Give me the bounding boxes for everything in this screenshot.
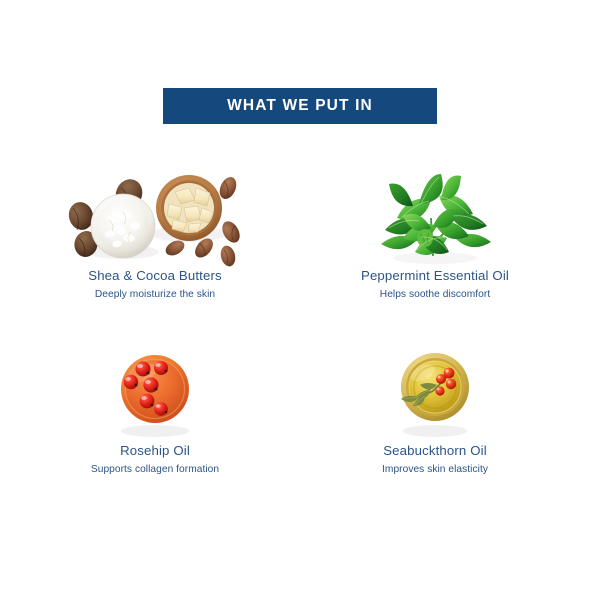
page-title: WHAT WE PUT IN bbox=[227, 98, 373, 114]
ingredient-title: Peppermint Essential Oil bbox=[300, 268, 570, 285]
ingredients-grid: Shea & Cocoa Butters Deeply moisturize t… bbox=[0, 160, 600, 510]
ingredient-art bbox=[20, 335, 290, 443]
ingredient-subtitle: Supports collagen formation bbox=[20, 464, 290, 477]
ingredient-item-peppermint-essential-oil: Peppermint Essential Oil Helps soothe di… bbox=[300, 160, 570, 335]
mint-sprig-group bbox=[381, 174, 491, 256]
ingredient-title: Shea & Cocoa Butters bbox=[20, 268, 290, 285]
rosehip-oil-bowl-icon bbox=[65, 335, 245, 443]
ingredient-art bbox=[300, 160, 570, 268]
ingredient-item-shea-cocoa-butters: Shea & Cocoa Butters Deeply moisturize t… bbox=[20, 160, 290, 335]
ingredient-item-seabuckthorn-oil: Seabuckthorn Oil Improves skin elasticit… bbox=[300, 335, 570, 510]
shea-cocoa-butter-icon bbox=[65, 160, 245, 268]
seabuckthorn-oil-bowl-icon bbox=[345, 335, 525, 443]
ingredients-row: Shea & Cocoa Butters Deeply moisturize t… bbox=[0, 160, 600, 335]
ingredient-title: Seabuckthorn Oil bbox=[300, 443, 570, 460]
ingredient-title: Rosehip Oil bbox=[20, 443, 290, 460]
ingredient-art bbox=[300, 335, 570, 443]
ingredient-caption: Seabuckthorn Oil Improves skin elasticit… bbox=[300, 443, 570, 476]
ingredient-caption: Peppermint Essential Oil Helps soothe di… bbox=[300, 268, 570, 301]
section-header-banner: WHAT WE PUT IN bbox=[163, 88, 437, 124]
cocoa-butter-wooden-bowl bbox=[156, 175, 222, 241]
ingredient-item-rosehip-oil: Rosehip Oil Supports collagen formation bbox=[20, 335, 290, 510]
rosehip-bowl bbox=[121, 355, 189, 423]
ingredient-subtitle: Helps soothe discomfort bbox=[300, 289, 570, 302]
seabuckthorn-bowl bbox=[401, 353, 469, 421]
ingredient-subtitle: Improves skin elasticity bbox=[300, 464, 570, 477]
infographic-canvas: WHAT WE PUT IN bbox=[0, 0, 600, 600]
shea-butter-bowl bbox=[91, 194, 155, 258]
peppermint-leaves-icon bbox=[345, 160, 525, 268]
ingredient-art bbox=[20, 160, 290, 268]
ingredients-row: Rosehip Oil Supports collagen formation bbox=[0, 335, 600, 510]
ingredient-caption: Rosehip Oil Supports collagen formation bbox=[20, 443, 290, 476]
ingredient-caption: Shea & Cocoa Butters Deeply moisturize t… bbox=[20, 268, 290, 301]
ingredient-subtitle: Deeply moisturize the skin bbox=[20, 289, 290, 302]
